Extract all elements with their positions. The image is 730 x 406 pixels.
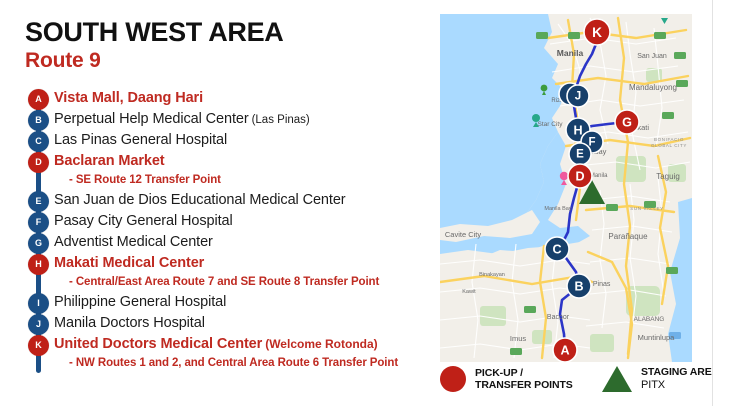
- stop-marker-icon: C: [28, 131, 49, 152]
- transfer-point-note: - Central/East Area Route 7 and SE Route…: [25, 274, 430, 292]
- route-info-panel: SOUTH WEST AREA Route 9 AVista Mall, Daa…: [0, 0, 432, 406]
- map-place-label: Cavite City: [445, 230, 482, 239]
- map-place-label: Binakayan: [479, 272, 505, 278]
- stop-marker-icon: D: [28, 152, 49, 173]
- map-marker-label: J: [575, 91, 581, 103]
- legend-pickup-text: PICK-UP / TRANSFER POINTS: [475, 367, 573, 392]
- stop-name-qualifier: (Las Pinas): [252, 112, 310, 129]
- transfer-point-note: - NW Routes 1 and 2, and Central Area Ro…: [25, 355, 430, 373]
- stop-row: DBaclaran Market: [25, 151, 430, 172]
- map-marker-label: G: [622, 116, 632, 130]
- stop-row: IPhilippine General Hospital: [25, 292, 430, 313]
- stop-marker-icon: G: [28, 233, 49, 254]
- route-map[interactable]: ManilaSan JuanMandaluyongRizalStar CityM…: [440, 14, 692, 362]
- stop-marker-icon: J: [28, 314, 49, 335]
- map-place-label: SUN VALLEY: [630, 206, 663, 211]
- map-place-label: San Juan: [637, 53, 667, 60]
- map-place-label: Taguig: [656, 172, 680, 181]
- map-marker-label: C: [552, 243, 561, 257]
- stop-marker-icon: E: [28, 191, 49, 212]
- stop-list: AVista Mall, Daang HariBPerpetual Help M…: [25, 88, 430, 373]
- map-place-label: Muntinlupa: [638, 333, 676, 342]
- stop-row: KUnited Doctors Medical Center(Welcome R…: [25, 334, 430, 355]
- red-circle-icon: [440, 366, 466, 392]
- stop-row: HMakati Medical Center: [25, 253, 430, 274]
- map-marker[interactable]: G: [615, 110, 639, 134]
- map-place-label: Manila: [557, 48, 584, 58]
- legend-pickup-line1: PICK-UP /: [475, 367, 573, 379]
- map-place-label: Manila Bay: [544, 206, 571, 212]
- stop-marker-icon: H: [28, 254, 49, 275]
- map-place-label: Imus: [510, 334, 527, 343]
- map-place-label: GLOBAL CITY: [651, 143, 687, 148]
- map-canvas[interactable]: ManilaSan JuanMandaluyongRizalStar CityM…: [440, 14, 692, 362]
- map-marker-label: E: [576, 149, 584, 161]
- stop-name: Pasay City General Hospital: [54, 211, 233, 232]
- legend-pickup-item: PICK-UP / TRANSFER POINTS: [440, 366, 573, 392]
- legend-staging-item: STAGING AREA PITX: [602, 366, 719, 392]
- map-marker-label: A: [560, 344, 569, 358]
- stop-name: Perpetual Help Medical Center: [54, 109, 249, 130]
- map-marker-label: K: [592, 25, 602, 40]
- map-marker[interactable]: B: [567, 274, 591, 298]
- map-place-label: Parañaque: [608, 232, 648, 241]
- stop-row: JManila Doctors Hospital: [25, 313, 430, 334]
- stop-marker-icon: F: [28, 212, 49, 233]
- stop-marker-icon: B: [28, 110, 49, 131]
- map-marker-label: B: [574, 280, 583, 294]
- map-place-label: Kawit: [462, 289, 476, 295]
- stop-name: Makati Medical Center: [54, 253, 204, 274]
- title-block: SOUTH WEST AREA Route 9: [25, 19, 284, 74]
- map-place-label: Bacoor: [547, 314, 570, 321]
- map-place-label: ALABANG: [634, 316, 665, 323]
- stop-name: Manila Doctors Hospital: [54, 313, 205, 334]
- stop-marker-icon: I: [28, 293, 49, 314]
- map-marker[interactable]: E: [569, 143, 591, 165]
- map-marker-label: H: [573, 124, 582, 138]
- stop-marker-icon: A: [28, 89, 49, 110]
- stop-name-qualifier: (Welcome Rotonda): [265, 336, 377, 353]
- route-subtitle: Route 9: [25, 48, 284, 74]
- stop-name: Vista Mall, Daang Hari: [54, 88, 203, 109]
- stop-row: BPerpetual Help Medical Center(Las Pinas…: [25, 109, 430, 130]
- map-legend: PICK-UP / TRANSFER POINTS STAGING AREA P…: [437, 366, 727, 402]
- stop-row: GAdventist Medical Center: [25, 232, 430, 253]
- page-title: SOUTH WEST AREA: [25, 19, 284, 46]
- map-place-label: Star City: [538, 121, 564, 128]
- map-marker-label: F: [588, 137, 595, 149]
- legend-pickup-line2: TRANSFER POINTS: [475, 379, 573, 391]
- map-marker[interactable]: C: [545, 237, 569, 261]
- stop-marker-icon: K: [28, 335, 49, 356]
- stop-name: Las Pinas General Hospital: [54, 130, 227, 151]
- legend-staging-line1: STAGING AREA: [641, 366, 719, 378]
- stop-name: United Doctors Medical Center: [54, 334, 262, 355]
- legend-staging-text: STAGING AREA PITX: [641, 366, 719, 391]
- map-marker[interactable]: K: [584, 19, 610, 45]
- slide-canvas: SOUTH WEST AREA Route 9 AVista Mall, Daa…: [0, 0, 730, 406]
- map-place-label: Mandaluyong: [629, 83, 677, 92]
- map-place-label: BONIFACIO: [654, 137, 684, 142]
- stop-row: ESan Juan de Dios Educational Medical Ce…: [25, 190, 430, 211]
- map-marker[interactable]: D: [568, 164, 592, 188]
- map-marker-label: D: [575, 170, 584, 184]
- map-marker[interactable]: J: [567, 85, 589, 107]
- slide-right-edge: [712, 0, 730, 406]
- stop-name: Baclaran Market: [54, 151, 165, 172]
- stop-name: San Juan de Dios Educational Medical Cen…: [54, 190, 346, 211]
- legend-staging-line2: PITX: [641, 379, 719, 392]
- green-triangle-icon: [602, 366, 632, 392]
- stop-row: AVista Mall, Daang Hari: [25, 88, 430, 109]
- map-marker[interactable]: A: [553, 338, 577, 362]
- stop-name: Philippine General Hospital: [54, 292, 226, 313]
- transfer-point-note: - SE Route 12 Transfer Point: [25, 172, 430, 190]
- stop-row: FPasay City General Hospital: [25, 211, 430, 232]
- stop-name: Adventist Medical Center: [54, 232, 213, 253]
- stop-row: CLas Pinas General Hospital: [25, 130, 430, 151]
